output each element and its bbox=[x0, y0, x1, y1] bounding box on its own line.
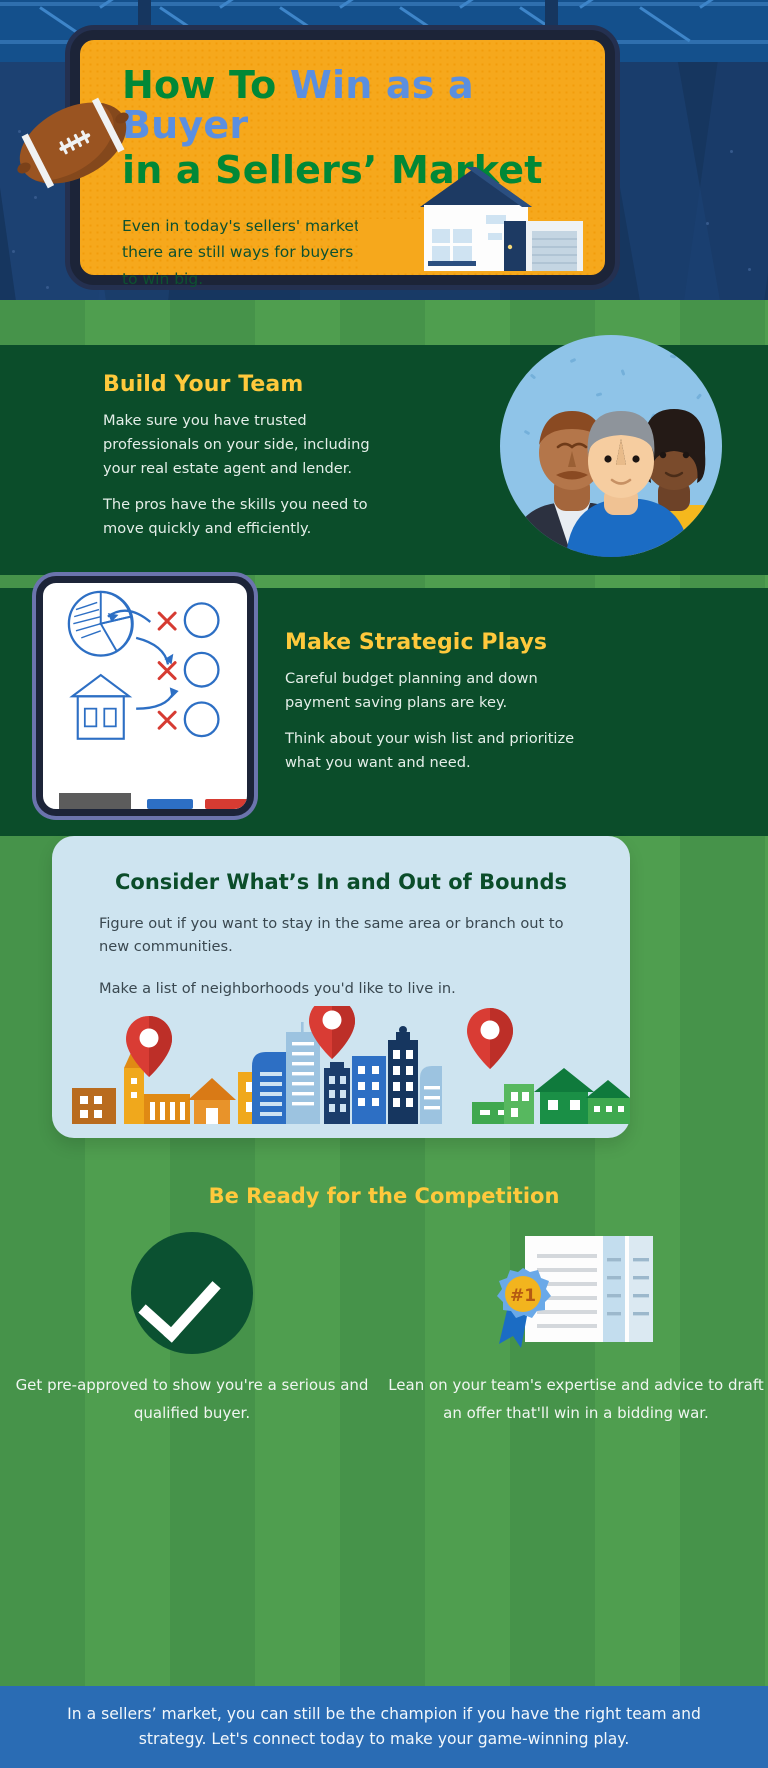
section-paragraph-2: Think about your wish list and prioritiz… bbox=[285, 727, 585, 775]
three-people-figures bbox=[500, 335, 722, 557]
check-mark-icon bbox=[131, 1232, 253, 1354]
city-skyline-map-pins-illustration bbox=[52, 1006, 630, 1124]
whiteboard-diagram bbox=[43, 583, 247, 783]
section-heading-competition: Be Ready for the Competition bbox=[0, 1168, 768, 1208]
section-paragraph-1: Careful budget planning and down payment… bbox=[285, 667, 585, 715]
competition-item: Get pre-approved to show you're a seriou… bbox=[0, 1232, 384, 1428]
playbook-whiteboard-illustration bbox=[36, 576, 254, 816]
suburb-cluster-right bbox=[472, 1068, 630, 1124]
infographic-page: How To Win as a Buyer in a Sellers’ Mark… bbox=[0, 0, 768, 1768]
eraser bbox=[59, 793, 131, 809]
section-paragraph-2: The pros have the skills you need to mov… bbox=[103, 493, 403, 541]
blue-marker bbox=[147, 799, 193, 809]
section-consider-bounds: Consider What’s In and Out of Bounds Fig… bbox=[52, 836, 630, 1138]
section-heading-build-your-team: Build Your Team bbox=[103, 372, 403, 397]
house-illustration bbox=[358, 161, 583, 271]
award-document-icon: #1 bbox=[491, 1232, 661, 1354]
footer-text: In a sellers’ market, you can still be t… bbox=[64, 1702, 704, 1753]
stadium-header: How To Win as a Buyer in a Sellers’ Mark… bbox=[0, 0, 768, 315]
section-paragraph-1: Make sure you have trusted professionals… bbox=[103, 409, 403, 481]
award-badge-label: #1 bbox=[510, 1286, 536, 1306]
section-be-ready-for-competition: Be Ready for the Competition Get pre-app… bbox=[0, 1168, 768, 1488]
section-make-strategic-plays: Make Strategic Plays Careful budget plan… bbox=[0, 588, 768, 836]
header-subtitle: Even in today's sellers' market, there a… bbox=[122, 213, 367, 293]
section-build-your-team: Build Your Team Make sure you have trust… bbox=[0, 345, 768, 575]
page-title: How To Win as a Buyer bbox=[122, 66, 575, 145]
title-part-1: How To bbox=[122, 63, 290, 107]
competition-item-caption: Lean on your team's expertise and advice… bbox=[384, 1372, 768, 1428]
red-marker bbox=[205, 799, 251, 809]
section-paragraph-1: Figure out if you want to stay in the sa… bbox=[99, 912, 569, 959]
competition-item: #1 Lean on your team's expertise and adv… bbox=[384, 1232, 768, 1428]
headline-board: How To Win as a Buyer in a Sellers’ Mark… bbox=[70, 30, 615, 285]
section-paragraph-2: Make a list of neighborhoods you'd like … bbox=[99, 977, 569, 1000]
section-heading-consider-bounds: Consider What’s In and Out of Bounds bbox=[52, 836, 630, 894]
competition-item-caption: Get pre-approved to show you're a seriou… bbox=[0, 1372, 384, 1428]
team-of-professionals-illustration bbox=[500, 335, 722, 557]
section-heading-make-strategic-plays: Make Strategic Plays bbox=[285, 630, 585, 655]
map-pin-icon bbox=[467, 1008, 513, 1069]
footer-banner: In a sellers’ market, you can still be t… bbox=[0, 1686, 768, 1768]
